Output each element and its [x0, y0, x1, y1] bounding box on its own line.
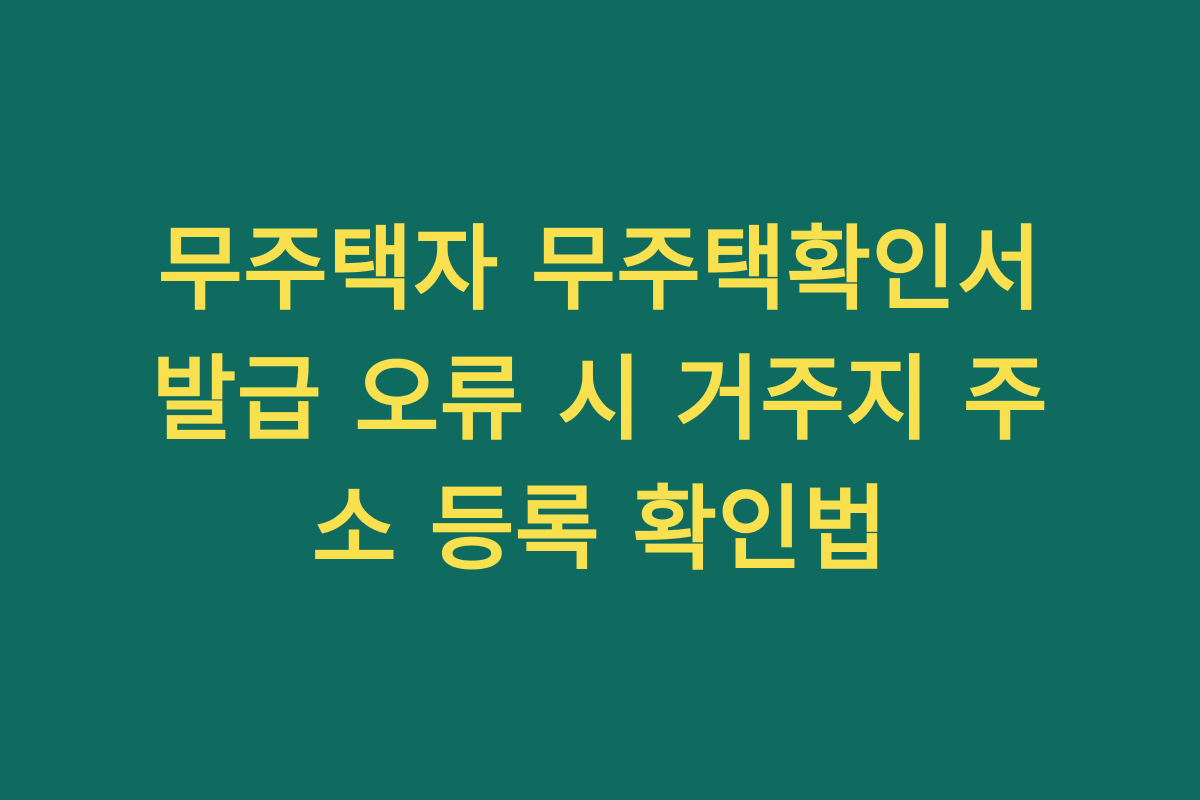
- title-line-2: 발급 오류 시 거주지 주: [95, 335, 1105, 465]
- page-title: 무주택자 무주택확인서 발급 오류 시 거주지 주 소 등록 확인법: [95, 205, 1105, 595]
- title-line-3: 소 등록 확인법: [95, 465, 1105, 595]
- title-line-1: 무주택자 무주택확인서: [95, 205, 1105, 335]
- title-banner: 무주택자 무주택확인서 발급 오류 시 거주지 주 소 등록 확인법: [0, 0, 1200, 800]
